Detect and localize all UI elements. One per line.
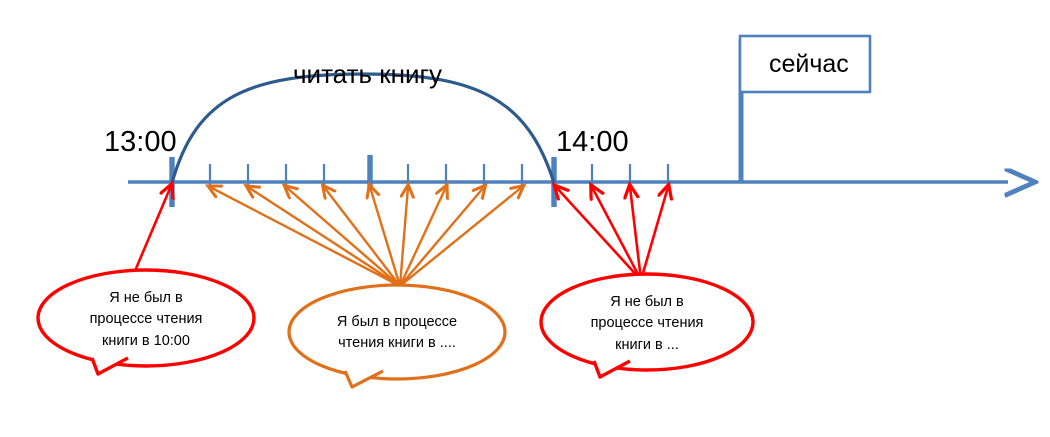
bubble-right-red-text: Я не был в процессе чтения книги в ... <box>547 292 747 356</box>
bubble-center-orange-text: Я был в процессе чтения книги в .... <box>297 312 497 355</box>
time-label-start: 13:00 <box>104 126 177 159</box>
red-arrows-left <box>132 186 171 278</box>
bubble-line: книги в 10:00 <box>46 331 246 352</box>
interval-arc <box>172 74 554 183</box>
bubble-line: чтения книги в .... <box>297 333 497 354</box>
time-label-end: 14:00 <box>556 126 629 159</box>
axis-minor-ticks <box>210 164 668 190</box>
bubble-line: процессе чтения <box>46 309 246 330</box>
timeline-diagram-svg <box>0 0 1050 437</box>
bubble-line: Я не был в <box>46 288 246 309</box>
bubble-line: книги в ... <box>547 335 747 356</box>
flag-label-now: сейчас <box>769 50 849 79</box>
bubble-line: Я не был в <box>547 292 747 313</box>
bubble-left-red-text: Я не был в процессе чтения книги в 10:00 <box>46 288 246 352</box>
bubble-line: процессе чтения <box>547 313 747 334</box>
orange-arrows-center <box>210 187 522 286</box>
diagram-canvas: читать книгу 13:00 14:00 сейчас Я не был… <box>0 0 1050 437</box>
red-arrows-right <box>556 187 668 280</box>
bubble-line: Я был в процессе <box>297 312 497 333</box>
arc-label-read-book: читать книгу <box>293 59 442 90</box>
